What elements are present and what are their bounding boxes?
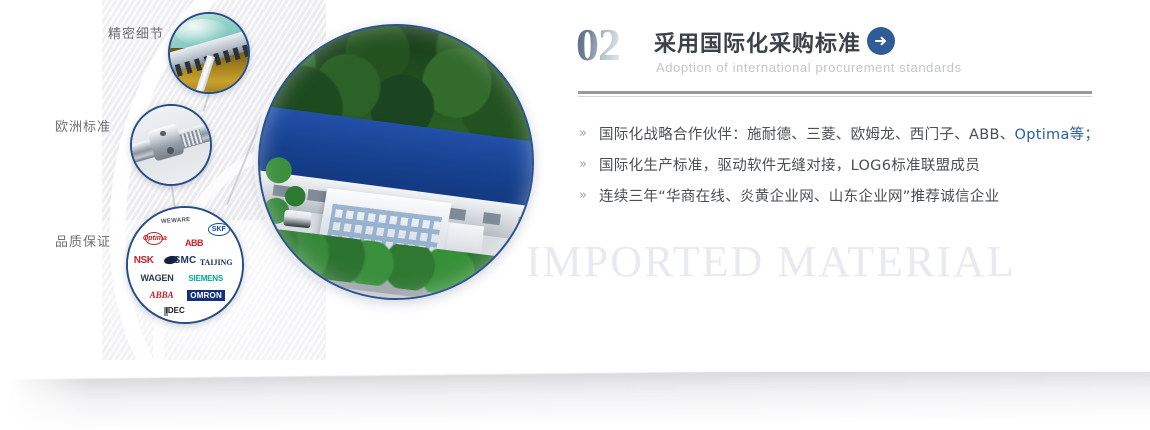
label-quality-assurance: 品质保证 (55, 231, 111, 250)
section-number: 02 (576, 22, 620, 68)
gear-detail-circle (168, 12, 250, 94)
feature-list: » 国际化战略合作伙伴：施耐德、三菱、欧姆龙、西门子、ABB、Optima等； … (576, 118, 1096, 211)
brand-logo-smc: SMC (174, 256, 197, 266)
brand-logo-abba: ABBA (150, 291, 174, 300)
screw-photo-hole-a (160, 131, 165, 136)
bullet-marker-icon: » (576, 127, 599, 140)
list-item-text-main: 连续三年“华商在线、炎黄企业网、山东企业网”推荐诚信企业 (599, 189, 999, 205)
arrow-right-icon[interactable] (867, 27, 895, 55)
brand-logo-siemens: SIEMENS (188, 275, 223, 283)
label-precision-detail: 精密细节 (108, 23, 164, 42)
content-column: 02 采用国际化采购标准 Adoption of international p… (576, 0, 1136, 430)
promo-banner: 精密细节 欧洲标准 品质保证 WEWARE SKF Optima ABB NSK… (0, 0, 1150, 430)
brand-logo-idec: IDEC (166, 307, 185, 315)
list-item-text: 国际化生产标准，驱动软件无缝对接，LOG6标准联盟成员 (599, 154, 980, 175)
list-item: » 连续三年“华商在线、炎黄企业网、山东企业网”推荐诚信企业 (576, 180, 1096, 211)
list-item-text-tail: ； (1084, 127, 1099, 143)
brand-logo-abb: ABB (185, 239, 203, 248)
brand-logo-skf: SKF (208, 223, 230, 236)
list-item-text: 国际化战略合作伙伴：施耐德、三菱、欧姆龙、西门子、ABB、Optima等； (599, 123, 1099, 144)
header-divider (578, 91, 1092, 97)
brand-logos-circle: WEWARE SKF Optima ABB NSK SMC TAIJING WA… (126, 206, 244, 324)
section-subtitle: Adoption of international procurement st… (656, 60, 962, 75)
factory-aerial-photo (258, 24, 534, 300)
list-item-text: 连续三年“华商在线、炎黄企业网、山东企业网”推荐诚信企业 (599, 185, 999, 206)
page-title: 采用国际化采购标准 (654, 26, 861, 58)
brand-logo-nsk: NSK (134, 256, 154, 266)
label-european-standard: 欧洲标准 (55, 116, 111, 135)
photo-vignette (260, 26, 532, 298)
bullet-marker-icon: » (576, 189, 599, 202)
list-item-text-main: 国际化生产标准，驱动软件无缝对接，LOG6标准联盟成员 (599, 158, 980, 174)
gear-photo-shine (175, 19, 230, 46)
bottom-shadow (0, 372, 1150, 430)
brand-logo-taijing: TAIJING (200, 259, 233, 267)
list-item-highlight: Optima等 (1015, 127, 1085, 143)
bullet-marker-icon: » (576, 158, 599, 171)
brand-logo-wagen: WAGEN (141, 274, 174, 283)
list-item: » 国际化战略合作伙伴：施耐德、三菱、欧姆龙、西门子、ABB、Optima等； (576, 118, 1096, 149)
watermark-text: IMPORTED MATERIAL (526, 236, 1016, 287)
ball-screw-circle (130, 104, 212, 186)
brand-logo-optima: Optima (143, 235, 167, 242)
brand-logo-omron: OMRON (187, 290, 225, 301)
list-item-text-main: 国际化战略合作伙伴：施耐德、三菱、欧姆龙、西门子、ABB、 (599, 127, 1015, 143)
list-item: » 国际化生产标准，驱动软件无缝对接，LOG6标准联盟成员 (576, 149, 1096, 180)
